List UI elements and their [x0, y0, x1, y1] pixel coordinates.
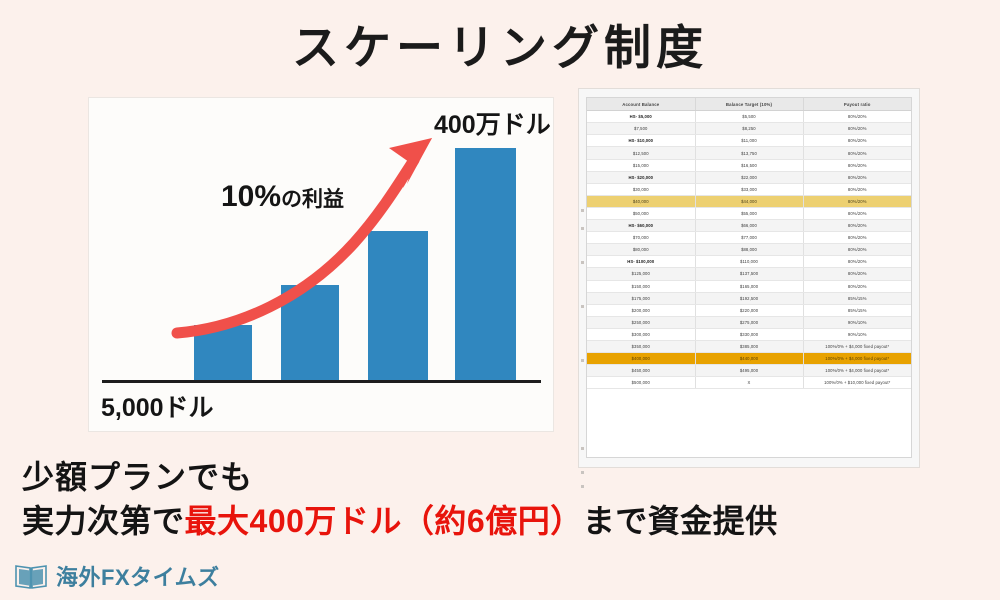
cell-account-balance: $350,000	[587, 340, 695, 352]
cell-balance-target: $137,500	[695, 268, 803, 280]
cell-balance-target: $55,000	[695, 207, 803, 219]
cell-balance-target: $88,000	[695, 244, 803, 256]
cell-payout-ratio: 80%/20%	[803, 207, 911, 219]
cell-payout-ratio: 100%/0% + $4,000 fixed payout*	[803, 340, 911, 352]
cell-payout-ratio: 85%/15%	[803, 292, 911, 304]
payout-table-body: HS- $5,000$5,50080%/20%$7,500$8,25080%/2…	[587, 111, 911, 389]
cell-balance-target: $44,000	[695, 195, 803, 207]
cell-account-balance: $500,000	[587, 377, 695, 389]
cell-payout-ratio: 80%/20%	[803, 256, 911, 268]
cell-payout-ratio: 90%/10%	[803, 316, 911, 328]
cell-balance-target: $33,000	[695, 183, 803, 195]
row-handle-markers[interactable]	[580, 209, 585, 499]
table-header-row: Account Balance Balance Target (10%) Pay…	[587, 98, 911, 111]
cell-payout-ratio: 80%/20%	[803, 244, 911, 256]
table-row[interactable]: $7,500$8,25080%/20%	[587, 123, 911, 135]
chart-bar-2	[281, 285, 339, 380]
cell-account-balance: HS- $100,000	[587, 256, 695, 268]
chart-growth-suffix: の利益	[281, 188, 344, 211]
chart-start-value-label: 5,000ドル	[101, 388, 214, 424]
cell-payout-ratio: 80%/20%	[803, 135, 911, 147]
cell-payout-ratio: 80%/20%	[803, 123, 911, 135]
table-row[interactable]: $30,000$33,00080%/20%	[587, 183, 911, 195]
cell-balance-target: $440,000	[695, 353, 803, 365]
cell-account-balance: $50,000	[587, 207, 695, 219]
cell-account-balance: $7,500	[587, 123, 695, 135]
column-header-balance-target: Balance Target (10%)	[695, 98, 803, 111]
cell-account-balance: $150,000	[587, 280, 695, 292]
table-row[interactable]: $450,000$495,000100%/0% + $4,000 fixed p…	[587, 365, 911, 377]
table-row[interactable]: $400,000$440,000100%/0% + $4,000 fixed p…	[587, 353, 911, 365]
cell-payout-ratio: 80%/20%	[803, 280, 911, 292]
cell-balance-target: $165,000	[695, 280, 803, 292]
table-row[interactable]: $350,000$385,000100%/0% + $4,000 fixed p…	[587, 340, 911, 352]
table-row[interactable]: $70,000$77,00080%/20%	[587, 232, 911, 244]
caption-line2-prefix: 実力次第で	[22, 503, 185, 539]
cell-account-balance: $70,000	[587, 232, 695, 244]
payout-table-card: Account Balance Balance Target (10%) Pay…	[578, 88, 920, 468]
cell-balance-target: $77,000	[695, 232, 803, 244]
cell-balance-target: $192,500	[695, 292, 803, 304]
cell-payout-ratio: 80%/20%	[803, 147, 911, 159]
cell-payout-ratio: 80%/20%	[803, 183, 911, 195]
cell-account-balance: HS- $60,000	[587, 220, 695, 232]
table-row[interactable]: $175,000$192,50085%/15%	[587, 292, 911, 304]
cell-balance-target: $220,000	[695, 304, 803, 316]
chart-bar-4	[455, 148, 516, 380]
cell-account-balance: HS- $20,000	[587, 171, 695, 183]
cell-balance-target: $13,750	[695, 147, 803, 159]
cell-account-balance: $400,000	[587, 353, 695, 365]
chart-baseline-axis	[102, 380, 541, 383]
site-logo-text: 海外FXタイムズ	[56, 560, 220, 592]
cell-balance-target: $385,000	[695, 340, 803, 352]
table-row[interactable]: $12,500$13,75080%/20%	[587, 147, 911, 159]
payout-spreadsheet[interactable]: Account Balance Balance Target (10%) Pay…	[586, 97, 912, 458]
cell-payout-ratio: 80%/20%	[803, 220, 911, 232]
table-row[interactable]: HS- $60,000$66,00080%/20%	[587, 220, 911, 232]
cell-balance-target: $5,500	[695, 111, 803, 123]
cell-account-balance: $125,000	[587, 268, 695, 280]
page-title: スケーリング制度	[0, 22, 1000, 74]
cell-account-balance: $40,000	[587, 195, 695, 207]
cell-account-balance: $300,000	[587, 328, 695, 340]
cell-payout-ratio: 80%/20%	[803, 159, 911, 171]
chart-bar-3	[368, 231, 428, 380]
table-row[interactable]: HS- $10,000$11,00080%/20%	[587, 135, 911, 147]
table-row[interactable]: $200,000$220,00085%/15%	[587, 304, 911, 316]
cell-balance-target: $66,000	[695, 220, 803, 232]
cell-account-balance: $250,000	[587, 316, 695, 328]
bar-chart-card: 10%の利益 400万ドル 5,000ドル	[88, 97, 554, 432]
table-row[interactable]: $15,000$16,50080%/20%	[587, 159, 911, 171]
cell-account-balance: $80,000	[587, 244, 695, 256]
payout-table: Account Balance Balance Target (10%) Pay…	[587, 98, 911, 389]
table-row[interactable]: $150,000$165,00080%/20%	[587, 280, 911, 292]
cell-payout-ratio: 100%/0% + $4,000 fixed payout*	[803, 365, 911, 377]
cell-balance-target: $16,500	[695, 159, 803, 171]
cell-account-balance: $12,500	[587, 147, 695, 159]
cell-account-balance: $175,000	[587, 292, 695, 304]
column-header-payout-ratio: Payout ratio	[803, 98, 911, 111]
cell-payout-ratio: 90%/10%	[803, 328, 911, 340]
caption-line2-highlight: 最大400万ドル（約6億円）	[185, 503, 583, 539]
caption-block: 少額プランでも 実力次第で最大400万ドル（約6億円）まで資金提供	[22, 457, 982, 542]
table-row[interactable]: $50,000$55,00080%/20%	[587, 207, 911, 219]
chart-growth-pct: 10%	[221, 180, 281, 213]
cell-account-balance: $200,000	[587, 304, 695, 316]
cell-account-balance: $15,000	[587, 159, 695, 171]
caption-line-2: 実力次第で最大400万ドル（約6億円）まで資金提供	[22, 501, 982, 542]
cell-balance-target: $110,000	[695, 256, 803, 268]
chart-plot-area: 10%の利益 400万ドル 5,000ドル	[89, 98, 553, 431]
cell-balance-target: $11,000	[695, 135, 803, 147]
cell-payout-ratio: 100%/0% + $4,000 fixed payout*	[803, 353, 911, 365]
caption-line-1: 少額プランでも	[22, 457, 982, 498]
cell-payout-ratio: 85%/15%	[803, 304, 911, 316]
table-row[interactable]: HS- $5,000$5,50080%/20%	[587, 111, 911, 123]
table-row[interactable]: $40,000$44,00080%/20%	[587, 195, 911, 207]
chart-growth-label: 10%の利益	[221, 180, 344, 214]
cell-payout-ratio: 80%/20%	[803, 232, 911, 244]
cell-balance-target: $495,000	[695, 365, 803, 377]
table-row[interactable]: HS- $100,000$110,00080%/20%	[587, 256, 911, 268]
table-row[interactable]: $80,000$88,00080%/20%	[587, 244, 911, 256]
chart-bar-1	[194, 325, 252, 380]
open-book-icon	[14, 561, 48, 591]
table-row[interactable]: $125,000$137,50080%/20%	[587, 268, 911, 280]
caption-line2-suffix: まで資金提供	[583, 503, 778, 539]
cell-balance-target: $275,000	[695, 316, 803, 328]
cell-account-balance: HS- $5,000	[587, 111, 695, 123]
chart-top-value-label: 400万ドル	[434, 105, 551, 141]
cell-account-balance: HS- $10,000	[587, 135, 695, 147]
cell-payout-ratio: 80%/20%	[803, 268, 911, 280]
cell-balance-target: $330,000	[695, 328, 803, 340]
cell-balance-target: $8,250	[695, 123, 803, 135]
column-header-account-balance: Account Balance	[587, 98, 695, 111]
cell-payout-ratio: 100%/0% + $10,000 fixed payout*	[803, 377, 911, 389]
cell-balance-target: X	[695, 377, 803, 389]
table-row[interactable]: $500,000X100%/0% + $10,000 fixed payout*	[587, 377, 911, 389]
table-row[interactable]: HS- $20,000$22,00080%/20%	[587, 171, 911, 183]
site-logo[interactable]: 海外FXタイムズ	[14, 560, 220, 592]
cell-account-balance: $450,000	[587, 365, 695, 377]
cell-payout-ratio: 80%/20%	[803, 195, 911, 207]
table-row[interactable]: $250,000$275,00090%/10%	[587, 316, 911, 328]
cell-payout-ratio: 80%/20%	[803, 171, 911, 183]
cell-payout-ratio: 80%/20%	[803, 111, 911, 123]
cell-account-balance: $30,000	[587, 183, 695, 195]
cell-balance-target: $22,000	[695, 171, 803, 183]
table-row[interactable]: $300,000$330,00090%/10%	[587, 328, 911, 340]
